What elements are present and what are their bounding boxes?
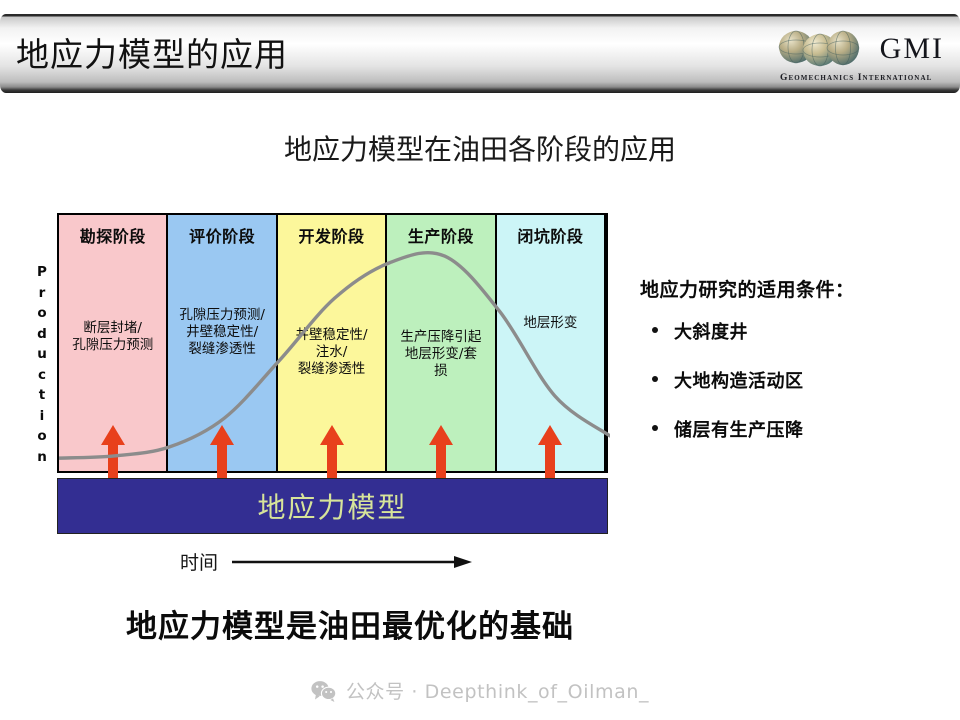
stage-body-text: 孔隙压力预测/井壁稳定性/裂缝渗透性 (170, 307, 273, 358)
conclusion-text: 地应力模型是油田最优化的基础 (0, 601, 700, 646)
up-arrow-icon (319, 425, 345, 481)
stage-column-appraisal: 评价阶段 孔隙压力预测/井壁稳定性/裂缝渗透性 (168, 215, 277, 471)
stage-body-line: 井壁稳定性/ (170, 324, 273, 341)
stage-body-line: 生产压降引起 (389, 329, 492, 346)
stage-body-line: 孔隙压力预测/ (170, 307, 273, 324)
stage-column-production: 生产阶段 生产压降引起地层形变/套损 (387, 215, 496, 471)
y-axis-letter: o (31, 303, 53, 324)
gmi-logo: GMI Geomechanics International (778, 26, 946, 82)
x-axis-label: 时间 (180, 548, 218, 575)
stage-heading: 勘探阶段 (59, 223, 166, 247)
y-axis-letter: i (31, 406, 53, 427)
right-arrow-icon (232, 554, 472, 570)
y-axis-letter: c (31, 365, 53, 386)
y-axis-letter: n (31, 447, 53, 468)
stage-body-line: 井壁稳定性/ (280, 327, 383, 344)
up-arrow-icon (537, 425, 563, 481)
footer-watermark: 公众号 · Deepthink_of_Oilman_ (0, 677, 960, 704)
list-item: 大斜度井 (640, 318, 940, 344)
geomechanical-model-bar: 地应力模型 (57, 478, 608, 534)
y-axis-letter: P (31, 262, 53, 283)
stage-body-text: 断层封堵/孔隙压力预测 (61, 320, 164, 354)
stage-chart: 勘探阶段 断层封堵/孔隙压力预测 评价阶段 孔隙压力预测/井壁稳定性/裂缝渗透性… (57, 213, 608, 473)
y-axis-letter: o (31, 426, 53, 447)
y-axis-label-production: P r o d u c t i o n (31, 262, 53, 467)
globe-icon (778, 28, 864, 70)
stage-body-text: 井壁稳定性/注水/裂缝渗透性 (280, 327, 383, 378)
up-arrow-icon (428, 425, 454, 481)
stage-body-text: 地层形变 (499, 315, 602, 332)
slide-subtitle: 地应力模型在油田各阶段的应用 (0, 128, 960, 168)
stage-body-line: 孔隙压力预测 (61, 337, 164, 354)
list-item: 大地构造活动区 (640, 367, 940, 393)
stage-body-line: 地层形变/套 (389, 346, 492, 363)
list-item: 储层有生产压降 (640, 416, 940, 442)
stage-body-line: 地层形变 (499, 315, 602, 332)
stage-body-line: 裂缝渗透性 (280, 361, 383, 378)
stage-body-line: 注水/ (280, 344, 383, 361)
wechat-icon (311, 680, 337, 702)
up-arrow-icon (209, 425, 235, 481)
x-axis-time: 时间 (180, 548, 472, 575)
stage-body-line: 损 (389, 363, 492, 380)
y-axis-letter: r (31, 283, 53, 304)
header-banner: 地应力模型的应用 (0, 14, 960, 93)
stage-body-line: 断层封堵/ (61, 320, 164, 337)
y-axis-letter: t (31, 385, 53, 406)
stage-column-abandonment: 闭坑阶段 地层形变 (497, 215, 606, 471)
footer-label: 公众号 · Deepthink_of_Oilman_ (346, 677, 649, 704)
stage-column-development: 开发阶段 井壁稳定性/注水/裂缝渗透性 (278, 215, 387, 471)
stage-column-exploration: 勘探阶段 断层封堵/孔隙压力预测 (59, 215, 168, 471)
y-axis-letter: d (31, 324, 53, 345)
applicability-heading: 地应力研究的适用条件： (640, 275, 940, 302)
stage-body-line: 裂缝渗透性 (170, 341, 273, 358)
stage-heading: 闭坑阶段 (497, 223, 604, 247)
applicability-panel: 地应力研究的适用条件： 大斜度井 大地构造活动区 储层有生产压降 (640, 275, 940, 465)
stage-heading: 评价阶段 (168, 223, 275, 247)
gmi-brand-text: GMI (880, 32, 944, 66)
applicability-list: 大斜度井 大地构造活动区 储层有生产压降 (640, 318, 940, 442)
model-bar-label: 地应力模型 (257, 486, 407, 526)
stage-heading: 生产阶段 (387, 223, 494, 247)
stage-body-text: 生产压降引起地层形变/套损 (389, 329, 492, 380)
page-title: 地应力模型的应用 (16, 28, 288, 76)
stage-heading: 开发阶段 (278, 223, 385, 247)
up-arrow-icon (100, 425, 126, 481)
gmi-tagline: Geomechanics International (780, 73, 932, 83)
y-axis-letter: u (31, 344, 53, 365)
